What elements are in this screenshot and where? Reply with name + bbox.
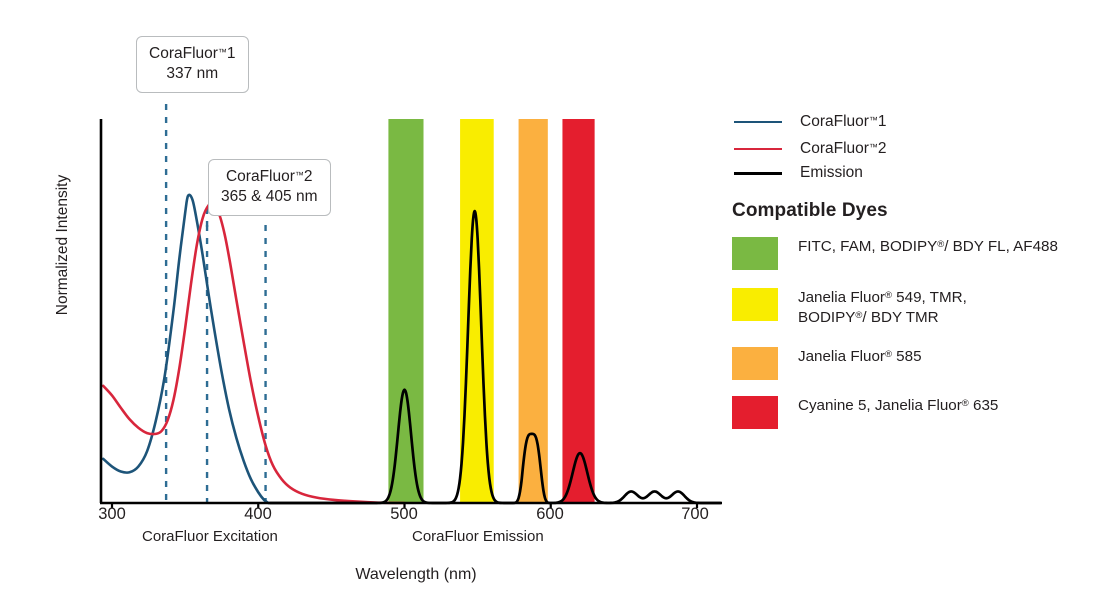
registered-icon: ®	[885, 290, 892, 301]
registered-icon: ®	[962, 398, 969, 409]
callout-corafluor-2: CoraFluor™2 365 & 405 nm	[208, 159, 331, 216]
compatible-dyes-title: Compatible Dyes	[732, 200, 888, 222]
callout-corafluor-1: CoraFluor™1 337 nm	[136, 36, 249, 93]
callout-1-line1: CoraFluor™1	[149, 44, 236, 64]
legend-label: CoraFluor™2	[800, 140, 887, 158]
callout-1-line2: 337 nm	[149, 64, 236, 84]
dye-item-red: Cyanine 5, Janelia Fluor® 635	[732, 396, 998, 429]
dye-label: Janelia Fluor® 549, TMR, BODIPY®/ BDY TM…	[798, 288, 967, 328]
emission-curve	[270, 211, 720, 503]
legend-label: Emission	[800, 164, 863, 182]
legend-swatch-line	[734, 121, 782, 123]
spectra-plot: Normalized Intensity 300 400 500 600 700…	[0, 0, 740, 612]
dye-item-orange: Janelia Fluor® 585	[732, 347, 922, 380]
x-sublabel-emission: CoraFluor Emission	[412, 528, 544, 545]
dye-color-swatch	[732, 288, 778, 321]
dye-color-swatch	[732, 396, 778, 429]
dye-label: Cyanine 5, Janelia Fluor® 635	[798, 396, 998, 416]
dye-color-swatch	[732, 237, 778, 270]
callout-2-line1: CoraFluor™2	[221, 167, 318, 187]
x-tick-600: 600	[520, 505, 580, 524]
legend-label: CoraFluor™1	[800, 113, 887, 131]
legend-item-corafluor-2: CoraFluor™2	[734, 140, 887, 158]
y-axis-label: Normalized Intensity	[54, 160, 72, 330]
figure-root: Normalized Intensity 300 400 500 600 700…	[0, 0, 1110, 612]
dye-color-swatch	[732, 347, 778, 380]
x-axis-label: Wavelength (nm)	[286, 566, 546, 584]
emission-band-1	[460, 119, 494, 504]
trademark-icon: ™	[869, 115, 878, 125]
dye-label: FITC, FAM, BODIPY®/ BDY FL, AF488	[798, 237, 1058, 257]
emission-band-3	[562, 119, 594, 504]
registered-icon: ®	[885, 349, 892, 360]
callout-2-line2: 365 & 405 nm	[221, 187, 318, 207]
x-tick-400: 400	[228, 505, 288, 524]
dye-label: Janelia Fluor® 585	[798, 347, 922, 367]
legend-swatch-line	[734, 148, 782, 150]
dye-item-green: FITC, FAM, BODIPY®/ BDY FL, AF488	[732, 237, 1058, 270]
x-tick-500: 500	[374, 505, 434, 524]
trademark-icon: ™	[869, 142, 878, 152]
legend-item-corafluor-1: CoraFluor™1	[734, 113, 887, 131]
x-tick-300: 300	[82, 505, 142, 524]
trademark-icon: ™	[218, 47, 227, 57]
legend-panel: CoraFluor™1 CoraFluor™2 Emission Compati…	[730, 0, 1110, 612]
dye-item-yellow: Janelia Fluor® 549, TMR, BODIPY®/ BDY TM…	[732, 288, 967, 328]
x-tick-700: 700	[665, 505, 725, 524]
emission-band-2	[519, 119, 548, 504]
excitation-curve-1	[103, 204, 404, 503]
legend-item-emission: Emission	[734, 164, 863, 182]
trademark-icon: ™	[295, 170, 304, 180]
x-sublabel-excitation: CoraFluor Excitation	[142, 528, 278, 545]
emission-band-0	[388, 119, 423, 504]
legend-swatch-line	[734, 172, 782, 175]
